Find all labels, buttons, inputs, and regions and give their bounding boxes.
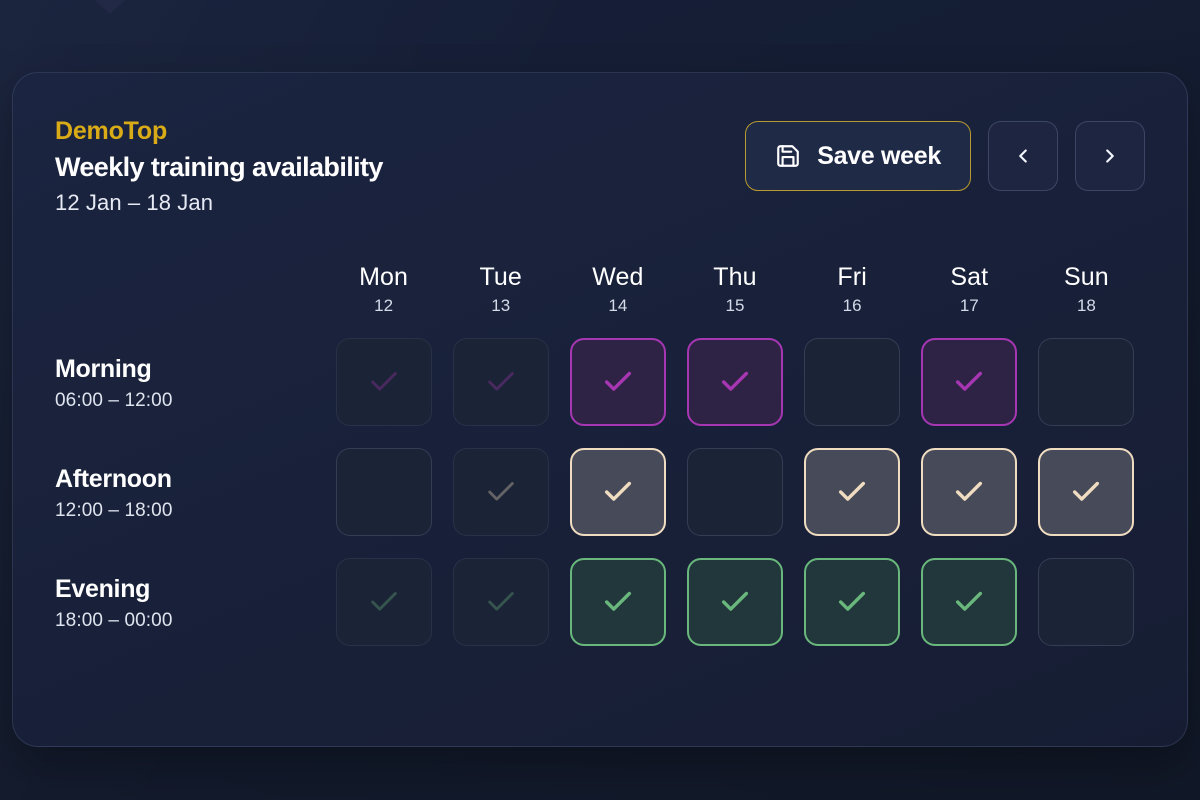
day-header-sun: Sun18 [1028, 262, 1145, 339]
day-name-label: Sat [911, 262, 1028, 293]
availability-cell-afternoon-fri[interactable] [804, 448, 900, 536]
cell-wrapper [559, 338, 676, 448]
availability-cell-afternoon-sat[interactable] [921, 448, 1017, 536]
availability-cell-morning-fri[interactable] [804, 338, 900, 426]
cell-wrapper [1028, 338, 1145, 448]
cell-wrapper [442, 448, 559, 558]
availability-cell-morning-sun[interactable] [1038, 338, 1134, 426]
day-header-thu: Thu15 [676, 262, 793, 339]
slot-name-label: Evening [55, 574, 307, 606]
day-name-label: Tue [442, 262, 559, 293]
availability-cell-morning-mon[interactable] [336, 338, 432, 426]
availability-cell-afternoon-thu[interactable] [687, 448, 783, 536]
availability-cell-evening-mon[interactable] [336, 558, 432, 646]
cell-wrapper [325, 448, 442, 558]
slot-label-evening: Evening18:00 – 00:00 [55, 558, 325, 668]
next-week-button[interactable] [1075, 121, 1145, 191]
availability-cell-evening-sat[interactable] [921, 558, 1017, 646]
cell-wrapper [911, 558, 1028, 668]
cell-wrapper [1028, 448, 1145, 558]
availability-cell-evening-thu[interactable] [687, 558, 783, 646]
availability-card: DemoTop Weekly training availability 12 … [12, 72, 1188, 747]
header-titles: DemoTop Weekly training availability 12 … [55, 117, 383, 218]
day-number-label: 12 [325, 296, 442, 316]
grid-corner-spacer [55, 262, 325, 339]
availability-cell-morning-thu[interactable] [687, 338, 783, 426]
cell-wrapper [325, 558, 442, 668]
slot-name-label: Afternoon [55, 464, 307, 496]
cell-wrapper [559, 558, 676, 668]
slot-time-label: 06:00 – 12:00 [55, 389, 307, 413]
brand-label: DemoTop [55, 117, 383, 147]
cell-wrapper [442, 558, 559, 668]
cell-wrapper [442, 338, 559, 448]
day-header-wed: Wed14 [559, 262, 676, 339]
cell-wrapper [1028, 558, 1145, 668]
date-range-label: 12 Jan – 18 Jan [55, 188, 383, 218]
day-name-label: Wed [559, 262, 676, 293]
availability-cell-evening-tue[interactable] [453, 558, 549, 646]
cell-wrapper [325, 338, 442, 448]
slot-label-morning: Morning06:00 – 12:00 [55, 338, 325, 448]
day-number-label: 15 [676, 296, 793, 316]
day-header-tue: Tue13 [442, 262, 559, 339]
previous-week-button[interactable] [988, 121, 1058, 191]
slot-name-label: Morning [55, 354, 307, 386]
cell-wrapper [911, 338, 1028, 448]
cell-wrapper [794, 558, 911, 668]
day-number-label: 18 [1028, 296, 1145, 316]
cell-wrapper [676, 338, 793, 448]
day-number-label: 16 [794, 296, 911, 316]
day-number-label: 17 [911, 296, 1028, 316]
slot-label-afternoon: Afternoon12:00 – 18:00 [55, 448, 325, 558]
cell-wrapper [794, 338, 911, 448]
chevron-right-icon [1099, 145, 1121, 167]
availability-grid: Mon12Tue13Wed14Thu15Fri16Sat17Sun18Morni… [55, 262, 1145, 669]
header-actions: Save week [745, 117, 1145, 191]
availability-cell-evening-fri[interactable] [804, 558, 900, 646]
availability-cell-evening-sun[interactable] [1038, 558, 1134, 646]
cell-wrapper [676, 448, 793, 558]
cell-wrapper [911, 448, 1028, 558]
day-name-label: Mon [325, 262, 442, 293]
day-header-mon: Mon12 [325, 262, 442, 339]
save-week-button[interactable]: Save week [745, 121, 971, 191]
availability-cell-morning-sat[interactable] [921, 338, 1017, 426]
cell-wrapper [794, 448, 911, 558]
day-name-label: Sun [1028, 262, 1145, 293]
availability-cell-morning-tue[interactable] [453, 338, 549, 426]
floppy-disk-icon [775, 143, 801, 169]
availability-cell-evening-wed[interactable] [570, 558, 666, 646]
page-title: Weekly training availability [55, 149, 383, 185]
cell-wrapper [559, 448, 676, 558]
slot-time-label: 18:00 – 00:00 [55, 609, 307, 633]
availability-cell-afternoon-tue[interactable] [453, 448, 549, 536]
save-week-label: Save week [817, 142, 941, 171]
day-header-fri: Fri16 [794, 262, 911, 339]
availability-cell-morning-wed[interactable] [570, 338, 666, 426]
slot-time-label: 12:00 – 18:00 [55, 499, 307, 523]
day-number-label: 13 [442, 296, 559, 316]
cell-wrapper [676, 558, 793, 668]
day-number-label: 14 [559, 296, 676, 316]
decorative-chevron-icon [62, 0, 158, 14]
chevron-left-icon [1012, 145, 1034, 167]
day-name-label: Thu [676, 262, 793, 293]
availability-cell-afternoon-mon[interactable] [336, 448, 432, 536]
availability-cell-afternoon-wed[interactable] [570, 448, 666, 536]
card-header: DemoTop Weekly training availability 12 … [55, 117, 1145, 218]
availability-cell-afternoon-sun[interactable] [1038, 448, 1134, 536]
day-header-sat: Sat17 [911, 262, 1028, 339]
day-name-label: Fri [794, 262, 911, 293]
